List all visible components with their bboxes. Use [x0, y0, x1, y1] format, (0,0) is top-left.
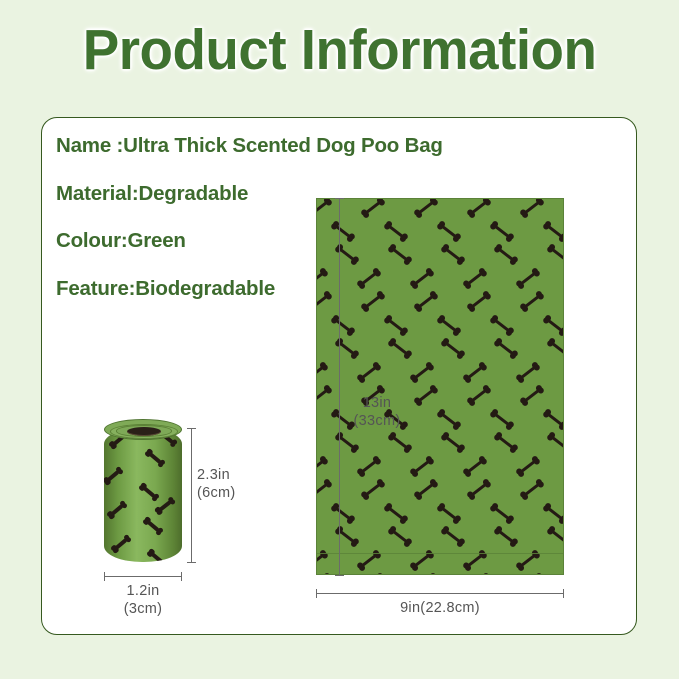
- dog-bone-icon: [316, 360, 329, 383]
- dog-bone-icon: [439, 243, 465, 266]
- bone-pattern: [317, 199, 563, 574]
- dog-bone-icon: [316, 454, 329, 477]
- dog-bone-icon: [545, 525, 564, 548]
- dog-bone-icon: [360, 572, 386, 575]
- dog-bone-icon: [462, 360, 488, 383]
- bag-height-label-cm: (33cm): [345, 412, 409, 430]
- dog-bone-icon: [356, 266, 382, 289]
- dog-bone-icon: [142, 516, 164, 536]
- dog-bone-icon: [316, 198, 333, 219]
- dog-bone-icon: [333, 431, 359, 454]
- dog-bone-icon: [519, 384, 545, 407]
- dog-bone-icon: [462, 454, 488, 477]
- dog-bone-icon: [545, 337, 564, 360]
- roll-bone-pattern: [104, 428, 182, 562]
- roll-width-label-cm: (3cm): [88, 600, 198, 618]
- roll-width-label: 1.2in (3cm): [88, 582, 198, 618]
- dog-bone-icon: [409, 266, 435, 289]
- dog-bone-icon: [356, 360, 382, 383]
- dog-bone-icon: [462, 266, 488, 289]
- bag-width-label: 9in(22.8cm): [316, 599, 564, 617]
- product-info-card: Name :Ultra Thick Scented Dog Poo Bag Ma…: [41, 117, 637, 635]
- dog-bone-icon: [409, 454, 435, 477]
- dog-bone-icon: [492, 243, 518, 266]
- dog-bone-icon: [316, 266, 329, 289]
- dog-bone-icon: [541, 407, 564, 430]
- dog-bone-icon: [466, 290, 492, 313]
- dog-bone-icon: [435, 219, 461, 242]
- roll-width-dim-cap-left: [104, 572, 105, 581]
- dog-bone-icon: [386, 525, 412, 548]
- dog-bone-icon: [541, 219, 564, 242]
- dog-bone-icon: [333, 525, 359, 548]
- dog-bone-icon: [515, 548, 541, 571]
- dog-bone-icon: [435, 407, 461, 430]
- dog-bone-icon: [386, 243, 412, 266]
- dog-bone-icon: [360, 478, 386, 501]
- dog-bone-icon: [466, 198, 492, 219]
- dog-bone-icon: [386, 431, 412, 454]
- dog-bone-icon: [382, 313, 408, 336]
- dog-bone-icon: [360, 198, 386, 219]
- title-bar: Product Information: [0, 8, 679, 92]
- dog-bone-icon: [488, 407, 514, 430]
- dog-poo-bag-illustration: [316, 198, 564, 575]
- dog-bone-icon: [333, 243, 359, 266]
- bag-roll-illustration: [104, 418, 182, 570]
- roll-height-dim-cap-top: [187, 428, 196, 429]
- dog-bone-icon: [409, 360, 435, 383]
- dog-bone-icon: [466, 384, 492, 407]
- dog-bone-icon: [329, 313, 355, 336]
- dog-bone-icon: [382, 219, 408, 242]
- dog-bone-icon: [413, 290, 439, 313]
- dog-bone-icon: [382, 501, 408, 524]
- dog-bone-icon: [519, 198, 545, 219]
- bag-bottom-seam: [317, 553, 563, 554]
- roll-height-dimension-line: [191, 428, 192, 562]
- dog-bone-icon: [488, 501, 514, 524]
- dog-bone-icon: [462, 548, 488, 571]
- dog-bone-icon: [519, 572, 545, 575]
- dog-bone-icon: [316, 478, 333, 501]
- dog-bone-icon: [104, 466, 124, 486]
- roll-body: [104, 428, 182, 562]
- dog-bone-icon: [488, 313, 514, 336]
- dog-bone-icon: [435, 501, 461, 524]
- dog-bone-icon: [413, 198, 439, 219]
- dog-bone-icon: [316, 290, 333, 313]
- bag-width-dim-cap-left: [316, 589, 317, 598]
- dog-bone-icon: [106, 500, 128, 520]
- dog-bone-icon: [541, 313, 564, 336]
- dog-bone-icon: [466, 478, 492, 501]
- dog-bone-icon: [519, 290, 545, 313]
- roll-height-label-in: 2.3in: [197, 466, 236, 484]
- dog-bone-icon: [488, 219, 514, 242]
- bag-width-dimension-line: [316, 593, 564, 594]
- dog-bone-icon: [329, 219, 355, 242]
- dog-bone-icon: [439, 337, 465, 360]
- bag-width-dim-cap-right: [563, 589, 564, 598]
- dog-bone-icon: [541, 501, 564, 524]
- dog-bone-icon: [435, 313, 461, 336]
- dog-bone-icon: [492, 525, 518, 548]
- dog-bone-icon: [360, 290, 386, 313]
- dog-bone-icon: [333, 337, 359, 360]
- dog-bone-icon: [519, 478, 545, 501]
- dog-bone-icon: [110, 534, 132, 554]
- dog-bone-icon: [386, 337, 412, 360]
- roll-width-dim-cap-right: [181, 572, 182, 581]
- dog-bone-icon: [413, 572, 439, 575]
- roll-top-face: [104, 419, 182, 440]
- dog-bone-icon: [492, 431, 518, 454]
- roll-height-label: 2.3in (6cm): [197, 466, 236, 502]
- bag-height-label-in: 13in: [345, 394, 409, 412]
- dog-bone-icon: [316, 548, 329, 571]
- dog-bone-icon: [144, 448, 166, 468]
- bag-height-label: 13in (33cm): [345, 394, 409, 430]
- dog-bone-icon: [439, 525, 465, 548]
- roll-width-label-in: 1.2in: [88, 582, 198, 600]
- dog-bone-icon: [413, 478, 439, 501]
- page-title: Product Information: [83, 17, 597, 83]
- roll-core-hole: [127, 427, 161, 436]
- dog-bone-icon: [545, 243, 564, 266]
- spec-row-name: Name :Ultra Thick Scented Dog Poo Bag: [56, 136, 576, 157]
- roll-height-dim-cap-bottom: [187, 562, 196, 563]
- dog-bone-icon: [138, 482, 160, 502]
- dog-bone-icon: [466, 572, 492, 575]
- dog-bone-icon: [515, 266, 541, 289]
- dog-bone-icon: [146, 548, 168, 562]
- dog-bone-icon: [356, 454, 382, 477]
- dog-bone-icon: [409, 548, 435, 571]
- bag-height-dim-cap-top: [335, 198, 344, 199]
- bag-height-dim-cap-bottom: [335, 575, 344, 576]
- roll-width-dimension-line: [104, 576, 182, 577]
- dog-bone-icon: [316, 384, 333, 407]
- dog-bone-icon: [515, 360, 541, 383]
- dog-bone-icon: [316, 572, 333, 575]
- dog-bone-icon: [413, 384, 439, 407]
- dog-bone-icon: [515, 454, 541, 477]
- dog-bone-icon: [439, 431, 465, 454]
- dog-bone-icon: [329, 501, 355, 524]
- roll-height-label-cm: (6cm): [197, 484, 236, 502]
- dog-bone-icon: [492, 337, 518, 360]
- dog-bone-icon: [356, 548, 382, 571]
- bag-height-dimension-line: [339, 198, 340, 575]
- dog-bone-icon: [545, 431, 564, 454]
